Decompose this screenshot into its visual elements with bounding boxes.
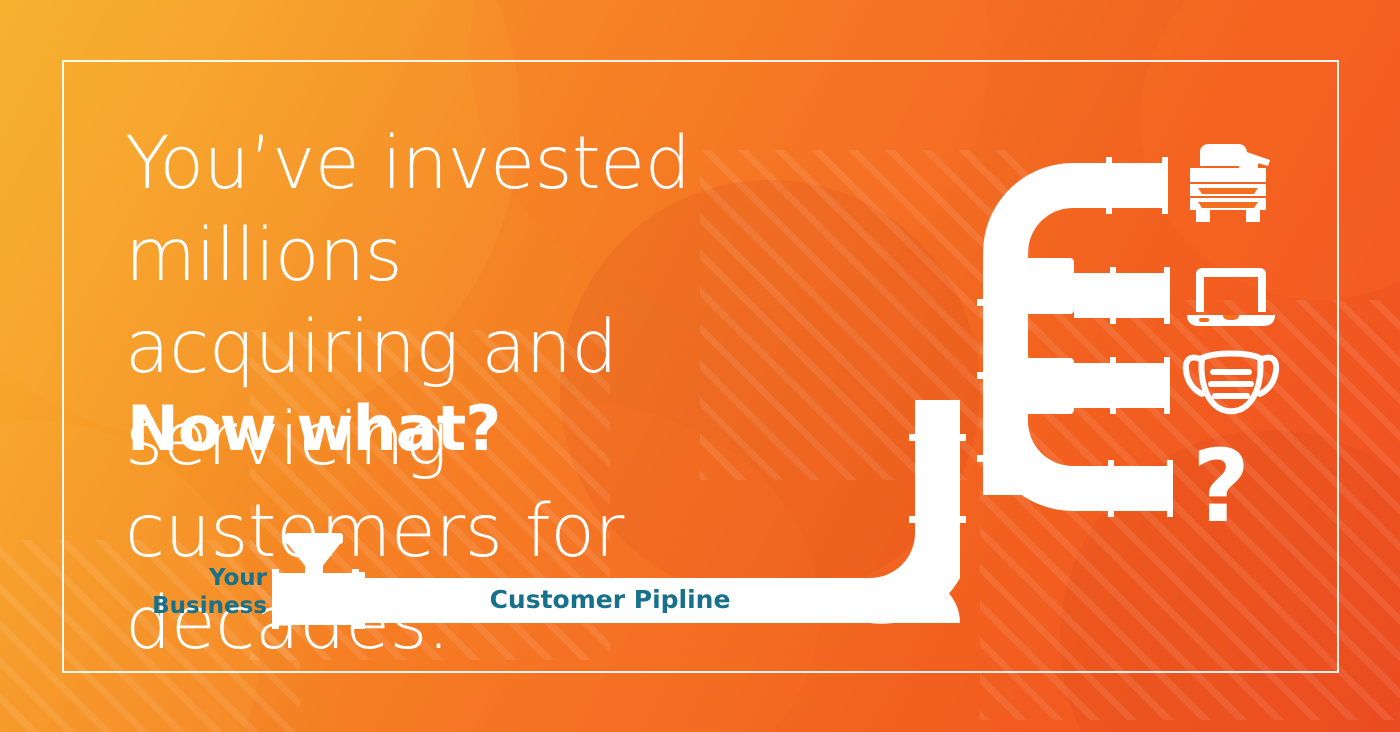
subheadline: Now what? — [127, 392, 500, 466]
pipe-branch-printer — [1073, 157, 1168, 214]
printer-copier-icon — [1184, 144, 1272, 228]
pipe-branch-laptop — [1074, 267, 1170, 324]
laptop-icon — [1185, 268, 1277, 330]
promo-banner: You’ve invested millions acquiring and s… — [0, 0, 1400, 732]
your-business-label: Your Business — [137, 564, 267, 620]
face-mask-icon — [1182, 348, 1280, 420]
pipe-manifold — [977, 163, 1110, 511]
pipe-branch-mask — [1074, 357, 1170, 414]
question-mark-icon: ? — [1192, 437, 1250, 537]
pipe-branch-question — [1073, 460, 1173, 517]
customer-pipeline-label: Customer Pipline — [352, 585, 868, 614]
